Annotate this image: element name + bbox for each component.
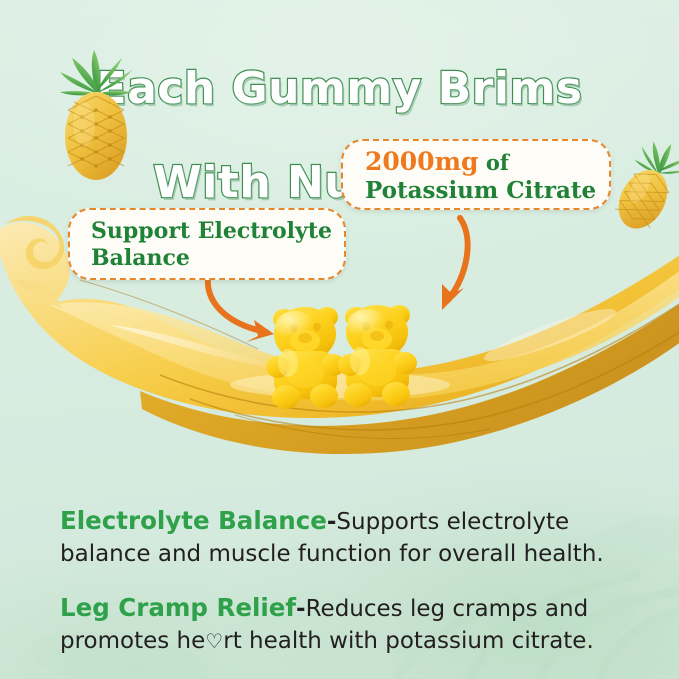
heart-icon: ♡ xyxy=(205,629,223,653)
infographic-canvas: Each Gummy Brims With Nutrients xyxy=(0,0,679,679)
arrow-to-gummies-left-icon xyxy=(196,272,316,344)
benefit-leg-cramp-relief: Leg Cramp Relief-Reduces leg cramps and … xyxy=(60,592,650,657)
callout-potassium-citrate-line-2: Potassium Citrate xyxy=(365,177,609,205)
benefit-electrolyte-heading: Electrolyte Balance xyxy=(60,506,327,535)
benefits-list: Electrolyte Balance-Supports electrolyte… xyxy=(60,505,650,679)
arrow-to-gummies-right-icon xyxy=(424,212,534,320)
callout-potassium-citrate[interactable]: 2000mg of Potassium Citrate xyxy=(341,139,611,210)
callout-support-electrolyte-balance[interactable]: Support Electrolyte Balance xyxy=(68,208,346,280)
benefit-legcramp-dash: - xyxy=(296,596,306,622)
benefit-legcramp-body-part2: rt health with potassium citrate. xyxy=(223,628,594,654)
callout-potassium-citrate-line-1: 2000mg of xyxy=(365,148,609,177)
potassium-amount: 2000mg xyxy=(365,147,479,176)
potassium-amount-suffix: of xyxy=(479,150,509,175)
benefit-electrolyte-dash: - xyxy=(327,509,337,535)
pineapple-left-icon xyxy=(50,48,142,183)
benefit-electrolyte-balance: Electrolyte Balance-Supports electrolyte… xyxy=(60,505,650,570)
callout-electrolyte-line-1: Support Electrolyte xyxy=(91,218,344,245)
benefit-legcramp-heading: Leg Cramp Relief xyxy=(60,593,296,622)
callout-electrolyte-line-2: Balance xyxy=(91,245,344,272)
